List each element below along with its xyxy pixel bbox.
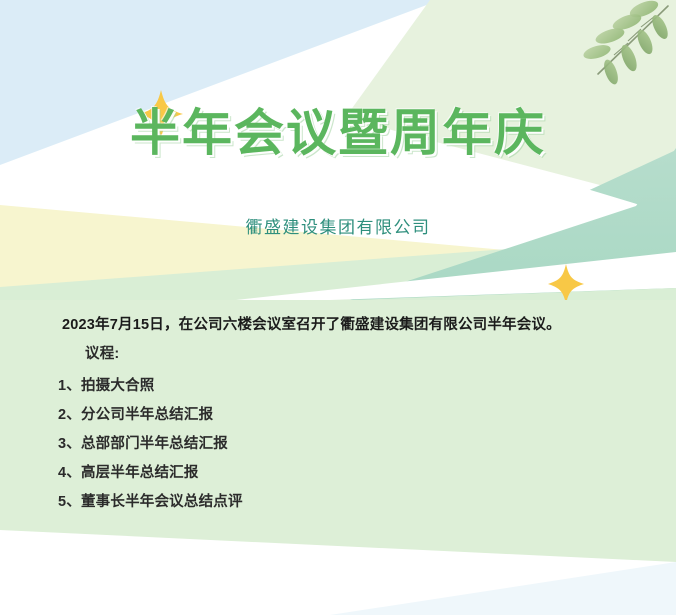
content-section: 2023年7月15日，在公司六楼会议室召开了衢盛建设集团有限公司半年会议。 议程… bbox=[0, 300, 676, 615]
banner-header: 半年会议暨周年庆 衢盛建设集团有限公司 bbox=[0, 0, 676, 300]
list-item: 3、总部部门半年总结汇报 bbox=[58, 430, 243, 459]
company-name: 衢盛建设集团有限公司 bbox=[246, 213, 431, 238]
banner-subtitle-wrap: 衢盛建设集团有限公司 bbox=[0, 213, 676, 238]
agenda-list: 1、拍摄大合照 2、分公司半年总结汇报 3、总部部门半年总结汇报 4、高层半年总… bbox=[58, 372, 243, 517]
lead-paragraph: 2023年7月15日，在公司六楼会议室召开了衢盛建设集团有限公司半年会议。 bbox=[62, 313, 561, 334]
list-item: 2、分公司半年总结汇报 bbox=[58, 401, 243, 430]
list-item: 5、董事长半年会议总结点评 bbox=[58, 488, 243, 517]
agenda-label: 议程: bbox=[85, 342, 119, 363]
list-item: 1、拍摄大合照 bbox=[58, 372, 243, 401]
list-item: 4、高层半年总结汇报 bbox=[58, 459, 243, 488]
page-root: 半年会议暨周年庆 衢盛建设集团有限公司 2023年7月15日，在公司六楼会议室召… bbox=[0, 0, 676, 615]
banner-background-graphic bbox=[0, 0, 676, 300]
